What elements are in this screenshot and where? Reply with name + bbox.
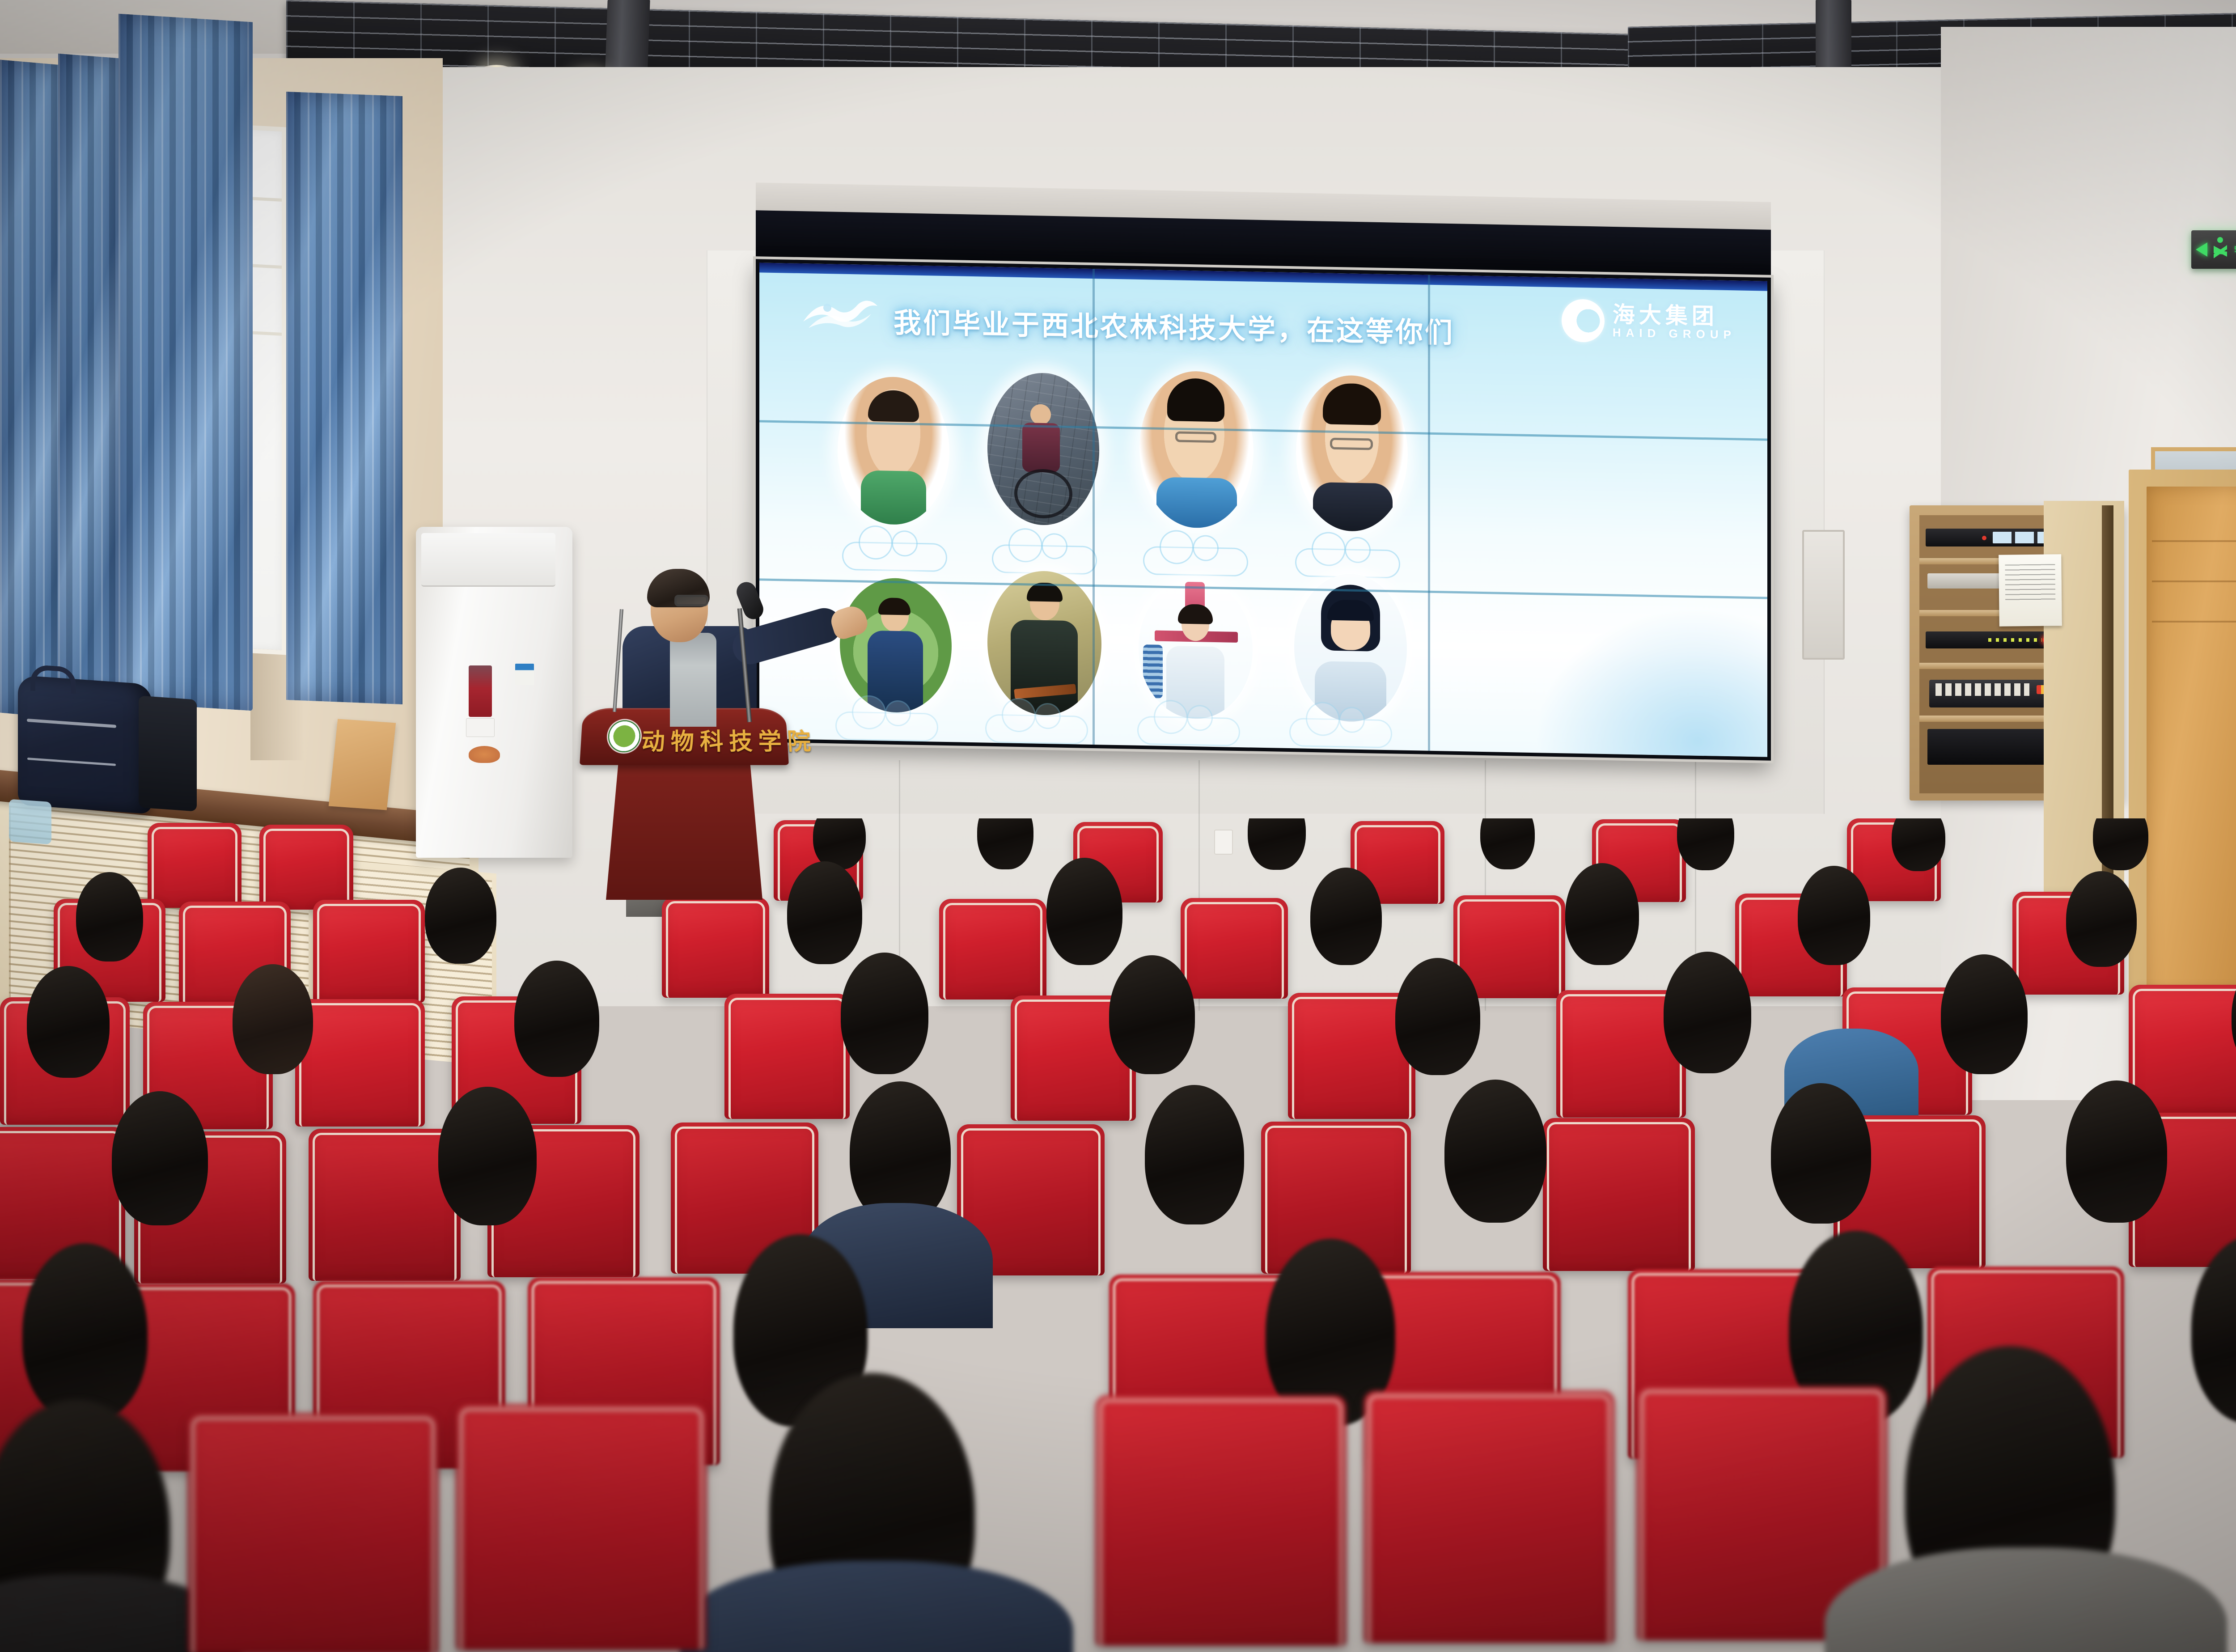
audience-head — [2066, 1080, 2167, 1223]
audience-head — [1248, 818, 1306, 870]
audience-head — [438, 1087, 537, 1225]
curtain — [0, 59, 67, 718]
slide-title: 我们毕业于西北农林科技大学，在这等你们 — [894, 300, 1454, 351]
video-wall-screen: 我们毕业于西北农林科技大学，在这等你们 海大集团 HAID GROUP — [759, 263, 1767, 757]
haid-mark-icon — [1562, 299, 1605, 343]
portrait-photo — [987, 570, 1101, 716]
curtain-main — [119, 14, 253, 711]
portrait-photo — [838, 376, 949, 526]
portrait-photo — [1294, 573, 1407, 723]
air-conditioner-unit[interactable] — [416, 527, 572, 858]
seat[interactable] — [456, 1404, 707, 1650]
ac-vent — [421, 533, 555, 587]
audience-head — [1677, 818, 1734, 870]
seat[interactable] — [259, 825, 353, 910]
audience-head — [1798, 866, 1870, 965]
energy-label — [515, 664, 534, 685]
audience-head — [1109, 955, 1195, 1074]
podium-sign-text: 动物科技学院 — [641, 723, 818, 756]
exit-sign-text: 安全出口 — [2234, 246, 2236, 253]
video-wall-bezel — [1428, 275, 1430, 751]
seat[interactable] — [724, 994, 850, 1119]
left-arrow-icon — [2196, 242, 2207, 257]
audience-head — [425, 868, 496, 964]
eyeglasses-icon — [674, 595, 708, 606]
emergency-exit-sign: 安全出口 — [2191, 230, 2236, 269]
brand-name-en: HAID GROUP — [1613, 326, 1736, 342]
cloud-decoration — [842, 542, 947, 572]
portrait-photo — [840, 577, 952, 714]
audience-head — [2066, 871, 2137, 967]
audience-head — [1145, 1085, 1244, 1224]
audience-head — [1395, 958, 1480, 1075]
portrait-photo — [1296, 374, 1408, 532]
seat[interactable] — [1364, 1391, 1614, 1643]
posted-notice — [1999, 554, 2062, 626]
audience-head — [850, 1081, 951, 1224]
seat[interactable] — [1543, 1118, 1695, 1271]
backpack — [18, 675, 152, 814]
audience-head — [112, 1091, 208, 1225]
seat[interactable] — [939, 899, 1046, 1000]
audience-shoulders — [680, 1561, 1073, 1652]
audience-head — [841, 953, 928, 1074]
university-seal-icon — [607, 720, 641, 753]
seat[interactable] — [148, 823, 241, 908]
audience-head — [514, 961, 599, 1077]
curtain — [58, 54, 119, 707]
seat[interactable] — [188, 1413, 438, 1652]
portrait-photo — [1139, 578, 1253, 720]
audience-head — [27, 966, 110, 1078]
cloud-decoration — [1143, 546, 1248, 576]
audience-seating — [0, 818, 2236, 1652]
audience-head — [1771, 1083, 1871, 1224]
running-person-icon — [2211, 237, 2231, 262]
cloud-decoration — [1137, 716, 1240, 746]
audience-head — [233, 964, 313, 1074]
cloud-decoration — [985, 714, 1088, 745]
cloud-decoration — [1289, 718, 1392, 748]
audience-head — [1892, 818, 1945, 871]
screen-glare — [1535, 605, 1767, 757]
curtain — [286, 92, 402, 704]
cloud-decoration — [992, 544, 1097, 575]
seat[interactable] — [313, 900, 425, 1003]
auditorium-scene: 我们毕业于西北农林科技大学，在这等你们 海大集团 HAID GROUP — [0, 0, 2236, 1652]
seat[interactable] — [309, 1129, 461, 1281]
seat[interactable] — [1096, 1395, 1346, 1646]
seat[interactable] — [662, 897, 769, 998]
audience-head — [1310, 868, 1382, 965]
portrait-photo — [987, 372, 1099, 526]
podium-body — [606, 761, 762, 900]
seat[interactable] — [295, 999, 425, 1127]
audience-head — [787, 861, 862, 964]
video-wall-bezel — [1093, 269, 1095, 745]
audience-head — [22, 1243, 148, 1422]
audience-head — [1046, 858, 1122, 965]
audience-head — [1941, 954, 2028, 1074]
seat[interactable] — [1181, 898, 1288, 999]
audience-head — [1444, 1080, 1546, 1223]
audience-head — [1565, 863, 1639, 965]
audience-head — [76, 872, 143, 962]
audience-head — [1480, 818, 1535, 869]
brand-logo: 海大集团 HAID GROUP — [1562, 299, 1736, 345]
ac-control-buttons[interactable] — [466, 718, 495, 737]
wave-logo-icon — [800, 287, 880, 337]
portrait-photo — [1139, 370, 1254, 529]
audience-head — [977, 818, 1033, 869]
folder — [329, 719, 396, 810]
video-wall[interactable]: 我们毕业于西北农林科技大学，在这等你们 海大集团 HAID GROUP — [756, 259, 1771, 761]
ac-display-panel — [469, 665, 492, 717]
bag — [139, 695, 197, 811]
audience-head — [2093, 818, 2148, 870]
ac-brand-logo-icon — [469, 746, 500, 763]
audience-head — [1664, 952, 1751, 1073]
speaker-sweater — [670, 633, 716, 727]
brand-name-cn: 海大集团 — [1613, 303, 1736, 328]
ceiling-duct-right — [1816, 0, 1851, 67]
podium: 动物科技学院 — [581, 707, 787, 900]
wall-mounted-panel — [1802, 530, 1845, 660]
cloud-decoration — [835, 711, 938, 741]
